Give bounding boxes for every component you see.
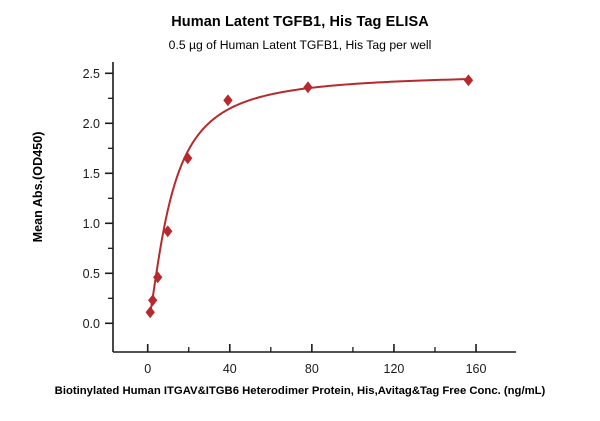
data-point-marker — [146, 307, 154, 317]
data-point-marker — [149, 295, 157, 305]
y-tick-label: 2.5 — [83, 67, 100, 81]
x-tick-label: 80 — [305, 362, 319, 376]
data-point-marker — [465, 75, 473, 85]
y-tick-label: 1.5 — [83, 167, 100, 181]
y-tick-label: 0.0 — [83, 317, 100, 331]
x-tick-label: 0 — [144, 362, 151, 376]
y-axis: 0.00.51.01.52.02.5 — [83, 62, 113, 352]
data-markers — [146, 75, 472, 317]
x-axis: 04080120160 — [113, 344, 516, 376]
x-tick-label: 120 — [384, 362, 405, 376]
fit-curve — [150, 79, 468, 313]
y-tick-label: 0.5 — [83, 267, 100, 281]
chart-figure: Human Latent TGFB1, His Tag ELISA 0.5 µg… — [0, 0, 600, 421]
y-tick-label: 1.0 — [83, 217, 100, 231]
x-tick-label: 40 — [223, 362, 237, 376]
data-point-marker — [224, 95, 232, 105]
plot-area: 0.00.51.01.52.02.5 04080120160 — [0, 0, 600, 421]
data-point-marker — [304, 82, 312, 92]
x-tick-label: 160 — [466, 362, 487, 376]
y-tick-label: 2.0 — [83, 117, 100, 131]
